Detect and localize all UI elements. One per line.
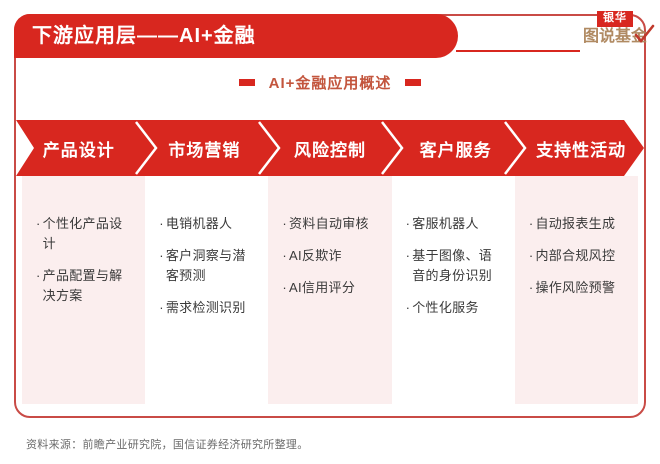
list-item-label: 个性化产品设计 — [43, 214, 134, 254]
list-item: · AI反欺诈 — [282, 246, 379, 266]
bullet-icon: · — [159, 298, 164, 318]
list-item: · 个性化服务 — [406, 298, 503, 318]
list-item: · 内部合规风控 — [529, 246, 626, 266]
column-support-activities: · 自动报表生成 · 内部合规风控 · 操作风险预警 — [515, 176, 638, 404]
list-item-label: AI信用评分 — [289, 278, 380, 298]
list-item-label: 自动报表生成 — [535, 214, 626, 234]
bullet-icon: · — [159, 246, 164, 266]
list-item-label: AI反欺诈 — [289, 246, 380, 266]
list-item-label: 电销机器人 — [166, 214, 257, 234]
chevron-shapes — [16, 120, 644, 176]
list-item: · 个性化产品设计 — [36, 214, 133, 254]
list-item: · 产品配置与解决方案 — [36, 266, 133, 306]
list-item-label: 个性化服务 — [412, 298, 503, 318]
subtitle-text: AI+金融应用概述 — [269, 72, 392, 93]
dash-marker-right-icon — [405, 79, 421, 86]
list-item-label: 客服机器人 — [412, 214, 503, 234]
bullet-icon: · — [529, 246, 534, 266]
brand-logo-top-text: 银华 — [597, 11, 633, 27]
bullet-icon: · — [529, 278, 534, 298]
bullet-icon: · — [529, 214, 534, 234]
bullet-icon: · — [406, 298, 411, 318]
infographic-root: 下游应用层——AI+金融 银华 图说基金 AI+金融应用概述 产品设计 市场营销… — [0, 0, 660, 464]
chevron-header-band — [16, 120, 644, 176]
bullet-icon: · — [159, 214, 164, 234]
list-item: · 电销机器人 — [159, 214, 256, 234]
bullet-icon: · — [282, 278, 287, 298]
list-item: · 自动报表生成 — [529, 214, 626, 234]
bullet-icon: · — [36, 214, 41, 234]
title-connector-line — [456, 50, 580, 52]
list-item: · 操作风险预警 — [529, 278, 626, 298]
list-item-label: 客户洞察与潜客预测 — [166, 246, 257, 286]
bullet-icon: · — [406, 246, 411, 266]
source-note: 资料来源：前瞻产业研究院，国信证券经济研究所整理。 — [26, 436, 309, 452]
column-risk-control: · 资料自动审核 · AI反欺诈 · AI信用评分 — [268, 176, 391, 404]
list-item-label: 产品配置与解决方案 — [43, 266, 134, 306]
list-item-label: 需求检测识别 — [166, 298, 257, 318]
list-item: · 客服机器人 — [406, 214, 503, 234]
bullet-icon: · — [406, 214, 411, 234]
list-item-label: 内部合规风控 — [535, 246, 626, 266]
list-item-label: 资料自动审核 — [289, 214, 380, 234]
subtitle-row: AI+金融应用概述 — [0, 68, 660, 96]
page-title: 下游应用层——AI+金融 — [14, 14, 256, 58]
list-item: · AI信用评分 — [282, 278, 379, 298]
title-bar: 下游应用层——AI+金融 — [14, 14, 458, 58]
bullet-icon: · — [36, 266, 41, 286]
list-item: · 需求检测识别 — [159, 298, 256, 318]
columns-container: · 个性化产品设计 · 产品配置与解决方案 · 电销机器人 · 客户洞察与潜客预… — [22, 176, 638, 404]
dash-marker-left-icon — [239, 79, 255, 86]
list-item: · 资料自动审核 — [282, 214, 379, 234]
bullet-icon: · — [282, 246, 287, 266]
list-item-label: 操作风险预警 — [535, 278, 626, 298]
brand-logo: 银华 图说基金 — [576, 8, 654, 54]
column-customer-service: · 客服机器人 · 基于图像、语音的身份识别 · 个性化服务 — [392, 176, 515, 404]
list-item: · 客户洞察与潜客预测 — [159, 246, 256, 286]
bullet-icon: · — [282, 214, 287, 234]
column-product-design: · 个性化产品设计 · 产品配置与解决方案 — [22, 176, 145, 404]
list-item-label: 基于图像、语音的身份识别 — [412, 246, 503, 286]
column-marketing: · 电销机器人 · 客户洞察与潜客预测 · 需求检测识别 — [145, 176, 268, 404]
list-item: · 基于图像、语音的身份识别 — [406, 246, 503, 286]
check-icon — [633, 24, 655, 46]
